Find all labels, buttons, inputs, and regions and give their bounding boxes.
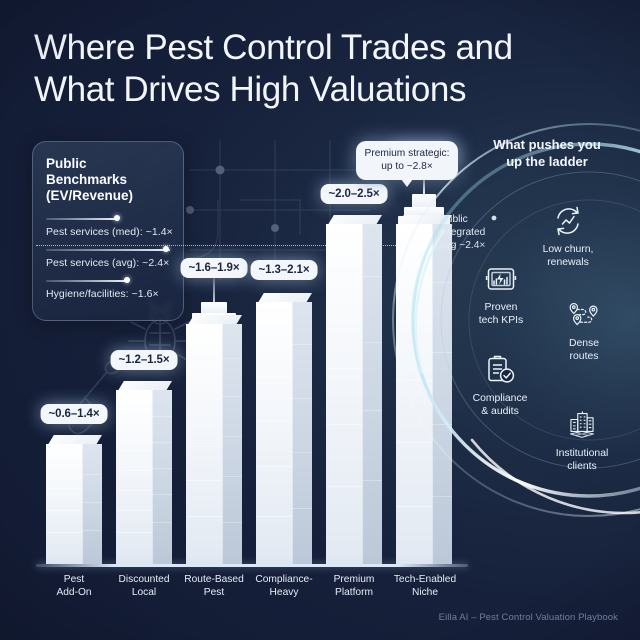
footer-credit: Eilla AI – Pest Control Valuation Playbo… bbox=[439, 612, 618, 623]
vignette-overlay bbox=[0, 0, 640, 640]
infographic-canvas: Where Pest Control Trades and What Drive… bbox=[0, 0, 640, 640]
